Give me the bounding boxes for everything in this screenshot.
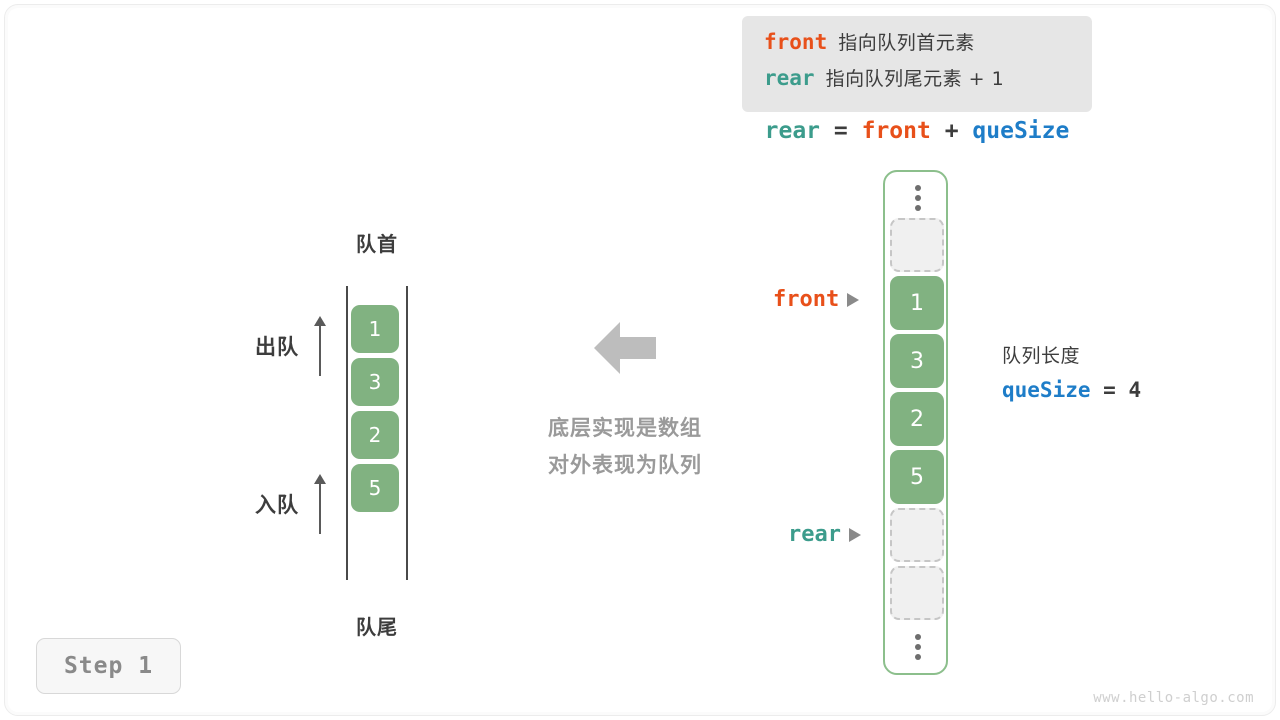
pointer-rear: rear — [788, 522, 861, 547]
dequeue-label: 出队 — [255, 331, 299, 361]
enqueue-annotation: 入队 — [255, 474, 327, 534]
formula-front: front — [862, 118, 931, 144]
array-cell-value: 1 — [910, 291, 924, 316]
array-cell-1[interactable]: 1 — [890, 276, 944, 330]
pointer-front: front — [773, 287, 859, 312]
arrow-up-icon — [313, 316, 327, 376]
arrow-left-icon — [594, 320, 656, 376]
middle-caption-line2: 对外表现为队列 — [504, 447, 746, 484]
array-cell-empty-5[interactable] — [890, 508, 944, 562]
array-cell-empty-0[interactable] — [890, 218, 944, 272]
vertical-ellipsis-top-icon — [885, 178, 950, 218]
queue-cell-2[interactable]: 3 — [351, 358, 399, 406]
legend-text-rear: 指向队列尾元素 + 1 — [826, 64, 1005, 91]
middle-caption-line1: 底层实现是数组 — [504, 410, 746, 447]
arrow-right-icon — [849, 528, 861, 542]
queue-cell-value: 1 — [369, 317, 382, 341]
middle-caption: 底层实现是数组 对外表现为队列 — [504, 410, 746, 484]
quesize-variable-name: queSize — [1002, 378, 1091, 402]
rear-formula: rear = front + queSize — [742, 118, 1092, 144]
quesize-note-value-row: queSize = 4 — [1002, 378, 1141, 402]
formula-plus: + — [945, 118, 959, 144]
array-cell-4[interactable]: 5 — [890, 450, 944, 504]
legend-text-front: 指向队列首元素 — [838, 28, 975, 55]
legend-row-front: front 指向队列首元素 — [764, 28, 1074, 64]
vertical-ellipsis-bottom-icon — [885, 627, 950, 667]
quesize-note: 队列长度 queSize = 4 — [1002, 341, 1141, 402]
enqueue-label: 入队 — [255, 489, 299, 519]
watermark: www.hello-algo.com — [1093, 690, 1254, 706]
array-container: 1 3 2 5 — [883, 170, 948, 675]
pointer-front-label: front — [773, 287, 839, 312]
formula-equals: = — [834, 118, 848, 144]
step-badge: Step 1 — [36, 638, 181, 694]
dequeue-annotation: 出队 — [255, 316, 327, 376]
pointer-legend-box: front 指向队列首元素 rear 指向队列尾元素 + 1 — [742, 16, 1092, 112]
formula-quesize: queSize — [972, 118, 1069, 144]
queue-cell-4[interactable]: 5 — [351, 464, 399, 512]
array-cell-value: 5 — [910, 465, 924, 490]
queue-cell-value: 2 — [369, 423, 382, 447]
array-cell-3[interactable]: 2 — [890, 392, 944, 446]
arrow-right-icon — [847, 293, 859, 307]
queue-cell-3[interactable]: 2 — [351, 411, 399, 459]
quesize-note-title: 队列长度 — [1002, 341, 1141, 368]
formula-lhs-rear: rear — [765, 118, 820, 144]
quesize-value: 4 — [1128, 378, 1141, 402]
array-cell-value: 2 — [910, 407, 924, 432]
queue-rail-right — [406, 286, 408, 580]
queue-cell-value: 3 — [369, 370, 382, 394]
queue-head-label: 队首 — [317, 228, 437, 257]
queue-cell-1[interactable]: 1 — [351, 305, 399, 353]
array-cell-empty-6[interactable] — [890, 566, 944, 620]
legend-keyword-front: front — [764, 30, 827, 54]
queue-cell-value: 5 — [369, 476, 382, 500]
legend-row-rear: rear 指向队列尾元素 + 1 — [764, 64, 1074, 100]
arrow-up-icon — [313, 474, 327, 534]
array-cell-value: 3 — [910, 349, 924, 374]
queue-tail-label: 队尾 — [317, 611, 437, 640]
queue-rail-left — [346, 286, 348, 580]
legend-keyword-rear: rear — [764, 66, 815, 90]
pointer-rear-label: rear — [788, 522, 841, 547]
array-cell-2[interactable]: 3 — [890, 334, 944, 388]
diagram-canvas: front 指向队列首元素 rear 指向队列尾元素 + 1 rear = fr… — [0, 0, 1280, 720]
quesize-equals: = — [1103, 378, 1116, 402]
